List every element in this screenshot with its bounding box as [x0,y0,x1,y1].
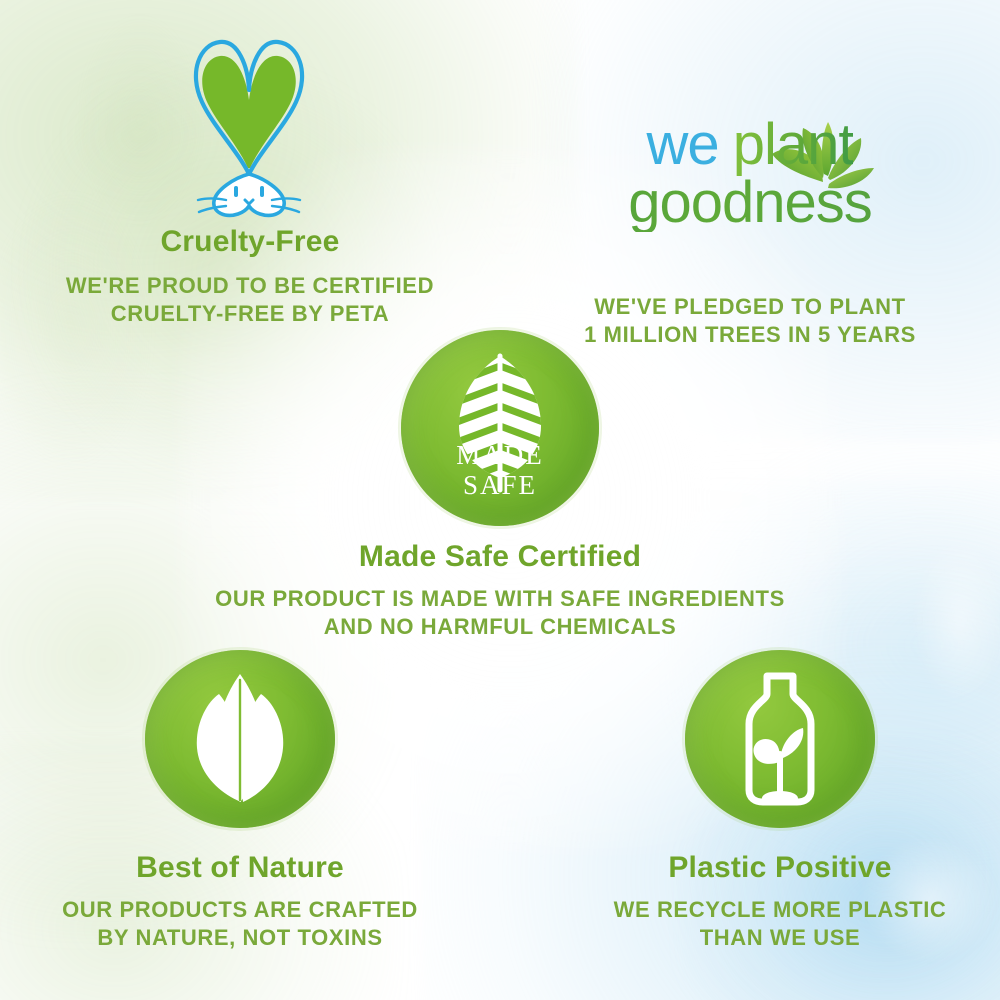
best-of-nature-heading: Best of Nature [0,852,480,884]
logo-word-goodness: goodness [500,174,1000,232]
best-of-nature-subtext-line1: OUR PRODUCTS ARE CRAFTED [0,896,480,924]
product-claims-poster: Cruelty-Free WE'RE PROUD TO BE CERTIFIED… [0,0,1000,1000]
we-plant-goodness-logo: weplant goodness [500,28,1000,218]
bunny-heart-ears-icon [0,28,500,218]
leaf-chevron-badge-icon: MADE SAFE [401,330,599,526]
cruelty-free-heading: Cruelty-Free [0,226,500,258]
cruelty-free-subtext-line1: WE'RE PROUD TO BE CERTIFIED [0,272,500,300]
made-safe-subtext-line2: AND NO HARMFUL CHEMICALS [190,613,810,641]
we-plant-goodness-subtext-line1: WE'VE PLEDGED TO PLANT [500,293,1000,321]
cruelty-free-subtext-line2: CRUELTY-FREE BY PETA [0,300,500,328]
made-safe-subtext: OUR PRODUCT IS MADE WITH SAFE INGREDIENT… [190,585,810,641]
cell-made-safe: MADE SAFE Made Safe Certified OUR PRODUC… [190,330,810,641]
plastic-positive-subtext-line1: WE RECYCLE MORE PLASTIC [540,896,1000,924]
we-plant-goodness-wordmark: weplant [500,116,1000,174]
three-leaves-badge-icon [145,650,335,828]
cell-cruelty-free: Cruelty-Free WE'RE PROUD TO BE CERTIFIED… [0,28,500,328]
made-safe-heading: Made Safe Certified [190,541,810,573]
made-safe-badge-line1: MADE [401,442,599,469]
made-safe-subtext-line1: OUR PRODUCT IS MADE WITH SAFE INGREDIENT… [190,585,810,613]
best-of-nature-subtext: OUR PRODUCTS ARE CRAFTED BY NATURE, NOT … [0,896,480,952]
plastic-positive-heading: Plastic Positive [540,852,1000,884]
cruelty-free-subtext: WE'RE PROUD TO BE CERTIFIED CRUELTY-FREE… [0,272,500,328]
plastic-positive-subtext-line2: THAN WE USE [540,924,1000,952]
plastic-positive-subtext: WE RECYCLE MORE PLASTIC THAN WE USE [540,896,1000,952]
cell-we-plant-goodness: weplant goodness WE'VE PLEDGED TO PLANT … [500,28,1000,349]
logo-word-we: we [647,112,719,177]
logo-word-plant: plant [733,112,854,177]
best-of-nature-subtext-line2: BY NATURE, NOT TOXINS [0,924,480,952]
made-safe-badge-line2: SAFE [401,472,599,499]
cell-best-of-nature: Best of Nature OUR PRODUCTS ARE CRAFTED … [0,650,480,952]
bottle-sprout-badge-icon [685,650,875,828]
cell-plastic-positive: Plastic Positive WE RECYCLE MORE PLASTIC… [540,650,1000,952]
